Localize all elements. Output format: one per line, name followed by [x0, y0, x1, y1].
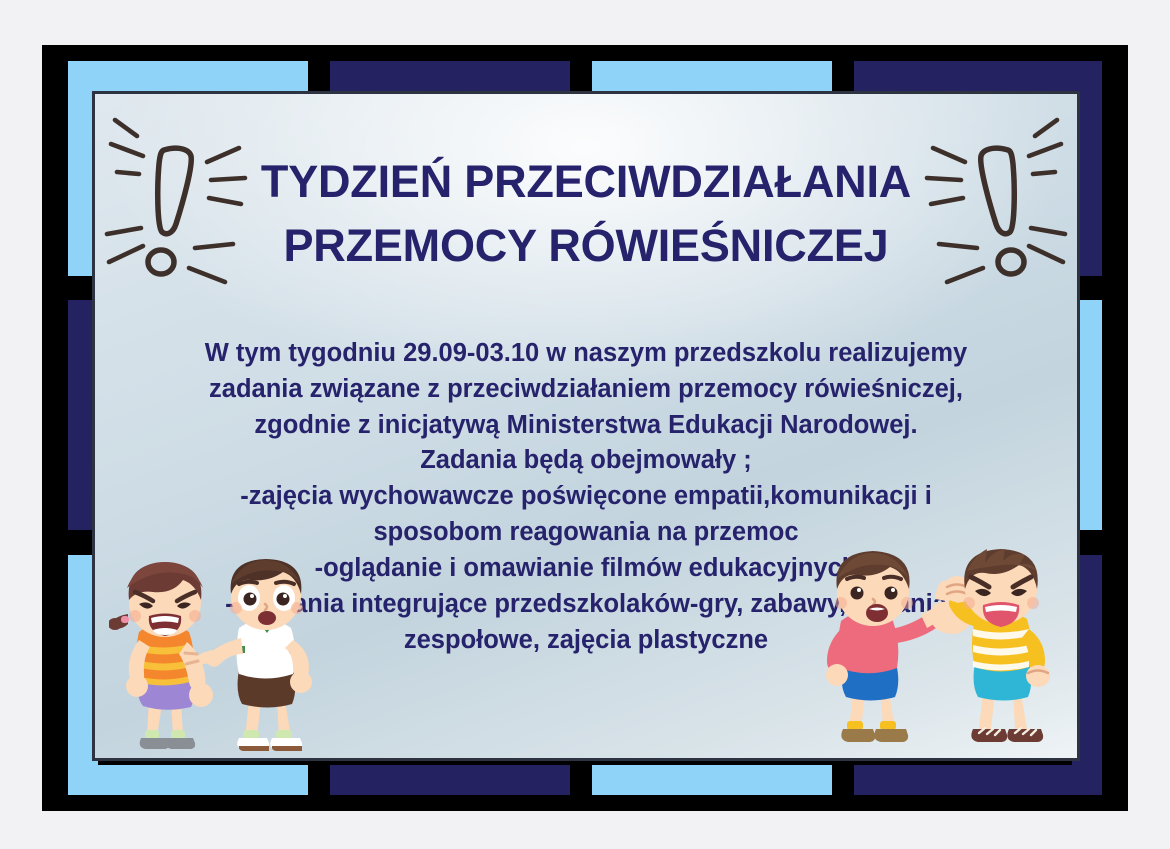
- boy-defending-and-angry-boy-illustration: [817, 543, 1067, 758]
- poster-title: TYDZIEŃ PRZECIWDZIAŁANIA PRZEMOCY RÓWIEŚ…: [95, 150, 1077, 278]
- frame-band-bottom-3: [592, 765, 832, 795]
- frame-band-top-3: [592, 61, 832, 91]
- poster-frame: TYDZIEŃ PRZECIWDZIAŁANIA PRZEMOCY RÓWIEŚ…: [42, 45, 1128, 811]
- frame-band-bottom-2: [330, 765, 570, 795]
- frame-band-top-2: [330, 61, 570, 91]
- body-line: Zadania będą obejmowały ;: [95, 443, 1077, 479]
- title-line-1: TYDZIEŃ PRZECIWDZIAŁANIA: [95, 150, 1077, 214]
- frame-band-top-1: [68, 61, 308, 91]
- poster-content-panel: TYDZIEŃ PRZECIWDZIAŁANIA PRZEMOCY RÓWIEŚ…: [92, 91, 1080, 761]
- body-line: W tym tygodniu 29.09-03.10 w naszym prze…: [95, 336, 1077, 372]
- frame-band-bottom-1: [68, 765, 308, 795]
- body-line: -zajęcia wychowawcze poświęcone empatii,…: [95, 479, 1077, 515]
- frame-band-top-4: [854, 61, 1102, 91]
- title-line-2: PRZEMOCY RÓWIEŚNICZEJ: [95, 214, 1077, 278]
- angry-girl-and-boy-illustration: [109, 558, 344, 758]
- frame-band-bottom-4: [854, 765, 1102, 795]
- body-line: zadania związane z przeciwdziałaniem prz…: [95, 372, 1077, 408]
- body-line: zgodnie z inicjatywą Ministerstwa Edukac…: [95, 408, 1077, 444]
